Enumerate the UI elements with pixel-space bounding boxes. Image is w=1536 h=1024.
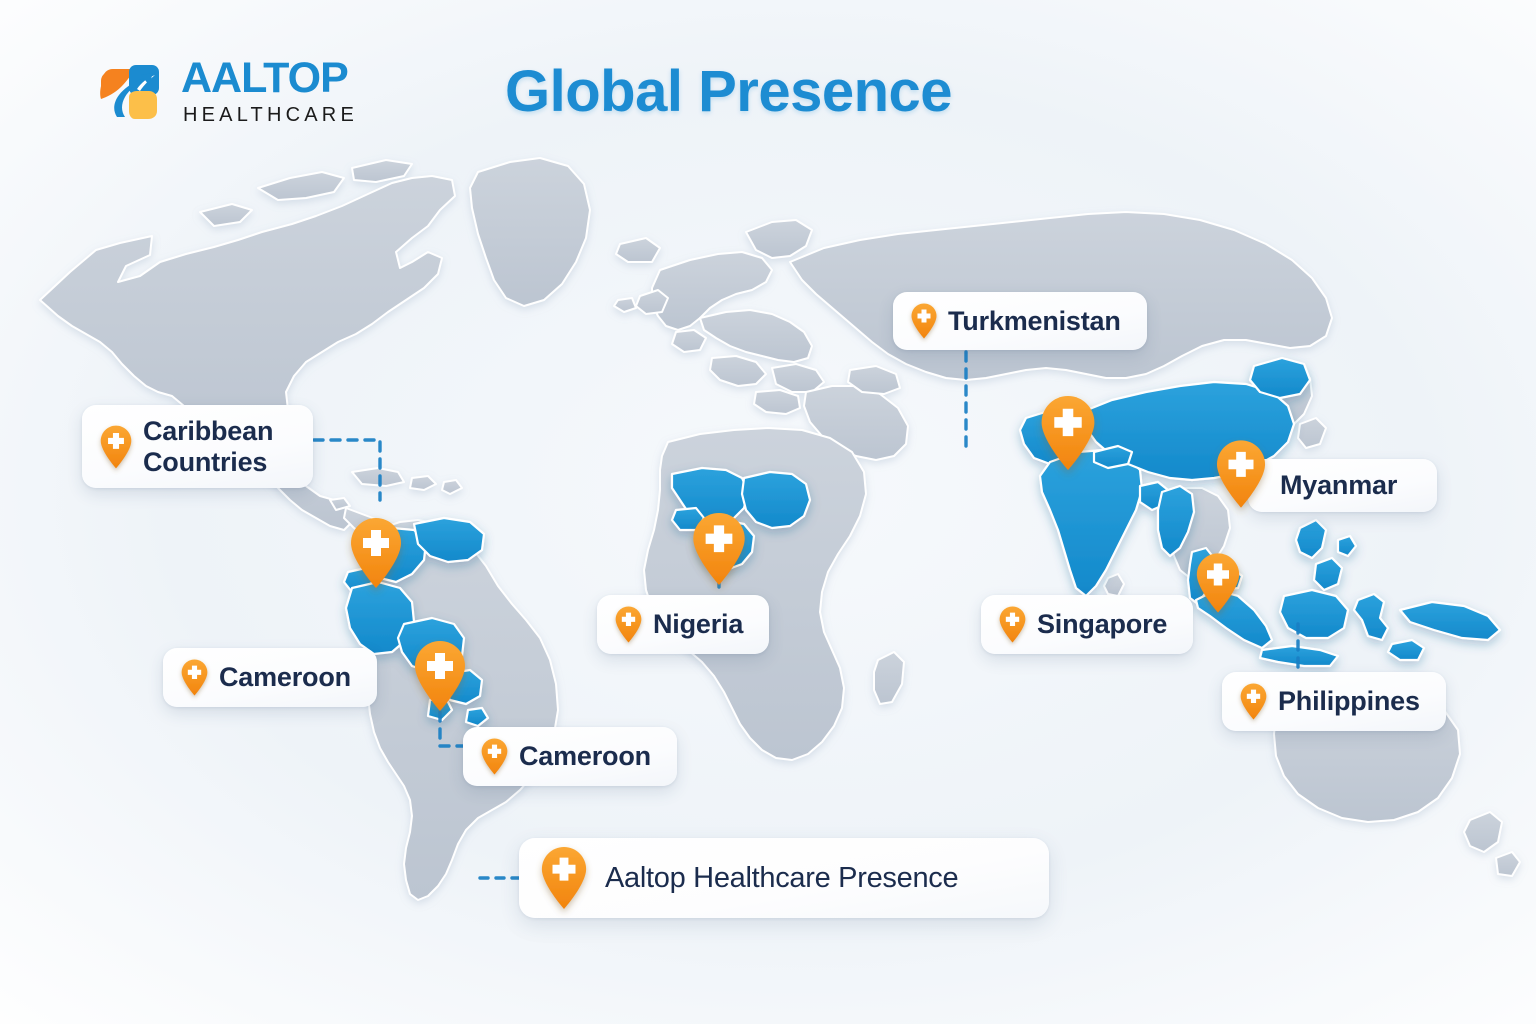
label-singapore[interactable]: Singapore [981, 595, 1193, 654]
label-myanmar[interactable]: Myanmar [1248, 459, 1437, 512]
label-caribbean[interactable]: Caribbean Countries [82, 405, 313, 488]
page-title: Global Presence [505, 58, 952, 125]
map-pin-medical-cross-icon [181, 659, 208, 696]
label-turkmenistan[interactable]: Turkmenistan [893, 292, 1147, 350]
label-text: Nigeria [653, 609, 743, 640]
logo-tagline: HEALTHCARE [183, 105, 358, 125]
legend[interactable]: Aaltop Healthcare Presence [519, 838, 1049, 918]
map-pin-medical-cross-icon [541, 846, 587, 910]
map-pin-nigeria[interactable] [692, 512, 746, 586]
map-pin-colombia[interactable] [350, 517, 402, 589]
map-pin-medical-cross-icon [1040, 395, 1096, 471]
map-pin-medical-cross-icon [692, 512, 746, 586]
logo-wordmark: AALTOP [181, 57, 358, 100]
header: AALTOP HEALTHCARE Global Presence [0, 0, 1536, 150]
map-pin-medical-cross-icon [1196, 552, 1240, 614]
map-pin-medical-cross-icon [1240, 683, 1267, 720]
infographic-canvas: AALTOP HEALTHCARE Global Presence [0, 0, 1536, 1024]
brand-logo[interactable]: AALTOP HEALTHCARE [95, 55, 358, 127]
map-pin-medical-cross-icon [911, 303, 937, 339]
label-text: Myanmar [1280, 470, 1397, 501]
label-nigeria[interactable]: Nigeria [597, 595, 769, 654]
map-pin-medical-cross-icon [999, 606, 1026, 643]
label-text: Cameroon [219, 662, 351, 693]
legend-label: Aaltop Healthcare Presence [605, 862, 958, 895]
map-pin-medical-cross-icon [481, 738, 508, 775]
aaltop-pinwheel-logo-icon [95, 55, 167, 127]
map-pin-medical-cross-icon [1216, 439, 1266, 509]
label-cameroon-south[interactable]: Cameroon [463, 727, 677, 786]
map-pin-pakistan[interactable] [1040, 395, 1096, 471]
label-text: Philippines [1278, 686, 1420, 717]
map-pin-medical-cross-icon [350, 517, 402, 589]
map-landmasses [40, 158, 1520, 900]
map-pin-medical-cross-icon [414, 640, 466, 712]
map-pin-medical-cross-icon [615, 606, 642, 643]
map-pin-medical-cross-icon [100, 425, 132, 469]
map-pin-bolivia[interactable] [414, 640, 466, 712]
map-pin-indonesia[interactable] [1196, 552, 1240, 614]
label-text: Cameroon [519, 741, 651, 772]
label-philippines[interactable]: Philippines [1222, 672, 1446, 731]
label-text: Caribbean Countries [143, 416, 273, 477]
label-cameroon-west[interactable]: Cameroon [163, 648, 377, 707]
label-text: Turkmenistan [948, 306, 1121, 337]
label-text: Singapore [1037, 609, 1167, 640]
